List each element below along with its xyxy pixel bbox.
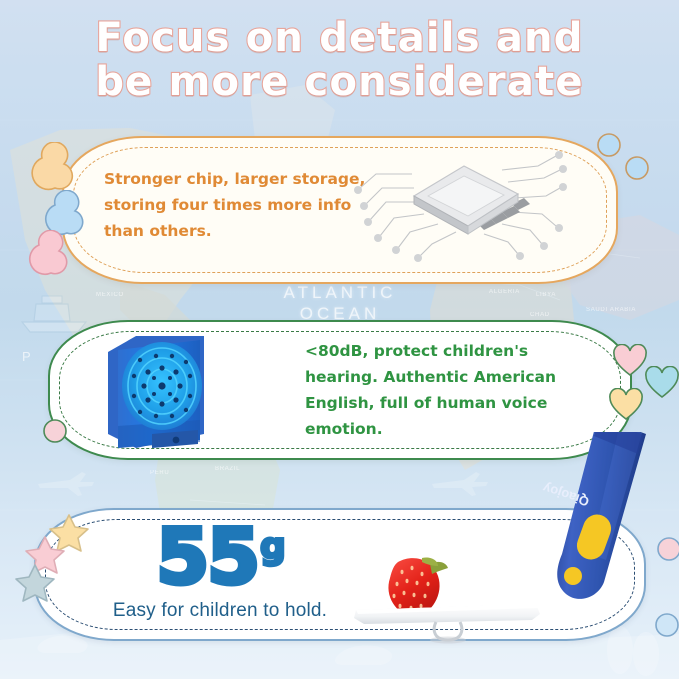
circle-blue-2-icon [624,155,650,181]
heart-yellow-icon [608,388,644,422]
weight-unit: g [260,526,286,567]
microchip-icon [352,148,567,273]
reading-pen-icon: Qiaojoy [528,432,654,618]
title-line-1: Focus on details and [0,16,679,60]
ocean-label-line1: ATLANTIC [245,282,435,303]
scale-base-shadow [430,637,466,644]
speaker-module-icon [100,330,220,460]
heart-pink-icon [612,344,648,378]
country-label-peru: PERU [150,470,169,476]
country-label-saudi-arabia: SAUDI ARABIA [586,307,636,313]
ocean-label: ATLANTIC OCEAN [245,282,435,325]
weight-caption: Easy for children to hold. [95,600,345,622]
circle-pink-2-icon [656,536,679,562]
weight-block: 55g Easy for children to hold. [95,520,345,622]
product-infographic-poster: ATLANTIC OCEAN MEXICO ALGERIA LIBYA SAUD… [0,0,679,679]
cloud-pink-icon [22,230,80,282]
country-label-algeria: ALGERIA [489,289,520,295]
weight-value-row: 55g [95,520,345,594]
speaker-port [173,437,180,444]
country-label-libya: LIBYA [536,292,556,298]
chip-card-text: Stronger chip, larger storage, storing f… [104,166,366,244]
pen-secondary-button [564,567,582,585]
weight-number: 55 [156,520,258,594]
title-line-2: be more considerate [0,60,679,104]
airplane-icon [430,470,490,496]
country-label-chad: CHAD [530,312,550,318]
country-label-brazil: BRAZIL [215,466,240,472]
sound-card-text: <80dB, protect children's hearing. Authe… [305,338,585,442]
airplane-icon-left [36,470,96,496]
star-blue-icon [14,562,56,602]
page-title: Focus on details and be more considerate [0,16,679,104]
circle-blue-3-icon [654,612,679,638]
heart-blue-icon [644,366,679,400]
country-label-mexico: MEXICO [96,292,124,298]
strawberry-on-scale-icon [350,548,550,644]
country-label-p: P [22,349,31,364]
circle-blue-1-icon [596,132,622,158]
circle-pink-1-icon [42,418,68,444]
